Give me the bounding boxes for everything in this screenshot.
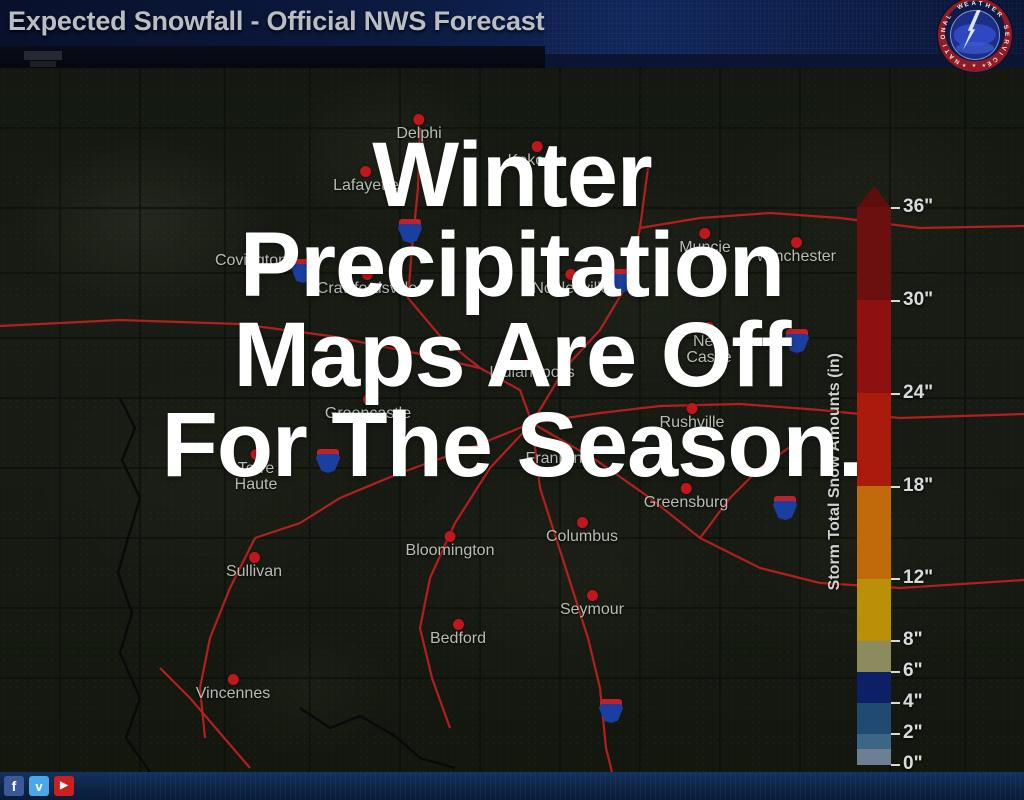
colorbar-tick-label: 0": [903, 753, 923, 772]
colorbar-top-cap: [857, 186, 891, 208]
colorbar-axis-title: Storm Total Snow Amounts (in): [826, 353, 844, 590]
city-dot-icon: [527, 353, 538, 364]
city-label: Columbus: [546, 529, 618, 546]
city-marker[interactable]: Delphi: [396, 114, 441, 143]
colorbar-band: [857, 207, 891, 300]
colorbar-tick: [891, 702, 900, 704]
city-marker[interactable]: Muncie: [679, 228, 731, 257]
city-label: Indianapolis: [489, 365, 574, 382]
city-label: New: [686, 334, 731, 350]
colorbar-tick-label: 8": [903, 629, 923, 651]
city-label: Haute: [235, 477, 278, 493]
city-label: Bloomington: [406, 543, 495, 560]
colorbar-band: [857, 671, 891, 703]
interstate-shield-icon[interactable]: [773, 496, 797, 520]
city-label: Delphi: [396, 126, 441, 143]
colorbar-tick: [891, 640, 900, 642]
city-label: Noblesville: [532, 281, 609, 298]
city-marker[interactable]: Bedford: [430, 619, 486, 648]
city-marker[interactable]: Bloomington: [406, 531, 495, 560]
colorbar-segments: [857, 207, 891, 764]
city-marker[interactable]: Sullivan: [226, 552, 282, 581]
city-label: Bedford: [430, 631, 486, 648]
shield-body: [599, 704, 623, 723]
city-marker[interactable]: Noblesville: [532, 269, 609, 298]
colorbar-tick: [891, 764, 900, 766]
city-dot-icon: [549, 439, 560, 450]
shield-body: [785, 334, 809, 353]
colorbar-tick-label: 18": [903, 475, 933, 497]
city-dot-icon: [362, 394, 373, 405]
city-marker[interactable]: Indianapolis: [489, 353, 574, 382]
city-dot-icon: [681, 483, 692, 494]
footer-bar: fᴠ▶: [0, 772, 1024, 800]
interstate-shield-icon[interactable]: [785, 329, 809, 353]
city-marker[interactable]: Winchester: [756, 237, 836, 266]
colorbar-tick-label: 4": [903, 691, 923, 713]
city-dot-icon: [686, 403, 697, 414]
colorbar-band: [857, 702, 891, 734]
facebook-icon[interactable]: f: [4, 776, 24, 796]
city-marker[interactable]: Rushville: [660, 403, 725, 432]
colorbar-tick-label: 30": [903, 289, 933, 311]
colorbar-tick-label: 24": [903, 382, 933, 404]
colorbar-tick-label: 6": [903, 660, 923, 682]
city-label: Greencastle: [325, 406, 411, 423]
city-marker[interactable]: Lafayette: [333, 166, 399, 195]
page-title: Expected Snowfall - Official NWS Forecas…: [8, 6, 544, 37]
city-dot-icon: [703, 322, 714, 333]
city-label: Winchester: [756, 249, 836, 266]
colorbar-band: [857, 486, 891, 579]
city-dot-icon: [699, 228, 710, 239]
city-label: Kokomo: [508, 153, 567, 170]
colorbar-band: [857, 640, 891, 672]
city-dot-icon: [444, 531, 455, 542]
city-label: Muncie: [679, 240, 731, 257]
shield-body: [291, 264, 315, 283]
snowfall-map[interactable]: DelphiLafayetteKokomoCovingtonCrawfordsv…: [0, 68, 1024, 772]
city-marker[interactable]: Franklin: [526, 439, 583, 468]
nws-logo-icon: NATIONAL WEATHER SERVICE ★ ★ ★: [936, 0, 1014, 74]
city-marker[interactable]: NewCastle: [686, 322, 731, 366]
city-label: Lafayette: [333, 178, 399, 195]
city-marker[interactable]: Kokomo: [508, 141, 567, 170]
colorbar-tick: [891, 393, 900, 395]
twitter-icon[interactable]: ᴠ: [29, 776, 49, 796]
youtube-icon[interactable]: ▶: [54, 776, 74, 796]
city-label: Rushville: [660, 415, 725, 432]
shield-body: [773, 501, 797, 520]
interstate-shield-icon[interactable]: [291, 259, 315, 283]
colorbar-tick: [891, 207, 900, 209]
colorbar-tick: [891, 733, 900, 735]
interstate-shield-icon[interactable]: [316, 449, 340, 473]
colorbar-tick-label: 12": [903, 567, 933, 589]
city-marker[interactable]: Columbus: [546, 517, 618, 546]
city-dot-icon: [228, 674, 239, 685]
city-marker[interactable]: Covington: [215, 241, 287, 270]
city-marker[interactable]: Greensburg: [644, 483, 729, 512]
colorbar-tick: [891, 486, 900, 488]
city-label: Vincennes: [196, 686, 270, 703]
city-label: Seymour: [560, 602, 624, 619]
city-dot-icon: [531, 141, 542, 152]
city-label: Franklin: [526, 451, 583, 468]
shield-body: [398, 224, 422, 243]
city-marker[interactable]: Greencastle: [325, 394, 411, 423]
colorbar-tick: [891, 300, 900, 302]
city-label: Crawfordsville: [317, 281, 417, 298]
city-label: Covington: [215, 253, 287, 270]
colorbar-tick-label: 2": [903, 722, 923, 744]
city-label: Greensburg: [644, 495, 729, 512]
city-marker[interactable]: Crawfordsville: [317, 269, 417, 298]
city-dot-icon: [245, 241, 256, 252]
nws-logo-stars: ★ ★ ★: [936, 63, 1014, 69]
colorbar-band: [857, 393, 891, 486]
city-dot-icon: [566, 269, 577, 280]
colorbar-band: [857, 578, 891, 640]
header-sub-strip: [0, 46, 545, 68]
city-dot-icon: [413, 114, 424, 125]
snowfall-colorbar[interactable]: [857, 186, 891, 764]
colorbar-tick-label: 36": [903, 196, 933, 218]
shield-body: [609, 274, 633, 293]
city-marker[interactable]: Seymour: [560, 590, 624, 619]
city-dot-icon: [577, 517, 588, 528]
strip-blob-2: [30, 61, 56, 67]
social-links[interactable]: fᴠ▶: [4, 776, 74, 796]
strip-blob-1: [24, 51, 62, 60]
city-label: Terre: [235, 461, 278, 477]
city-marker[interactable]: Vincennes: [196, 674, 270, 703]
city-dot-icon: [250, 449, 261, 460]
colorbar-band: [857, 300, 891, 393]
city-label: Sullivan: [226, 564, 282, 581]
interstate-shield-icon[interactable]: [398, 219, 422, 243]
city-dot-icon: [452, 619, 463, 630]
interstate-shield-icon[interactable]: [609, 269, 633, 293]
city-dot-icon: [249, 552, 260, 563]
city-marker[interactable]: TerreHaute: [235, 449, 278, 493]
colorbar-tick: [891, 578, 900, 580]
interstate-shield-icon[interactable]: [599, 699, 623, 723]
colorbar-band: [857, 733, 891, 749]
shield-body: [316, 454, 340, 473]
city-dot-icon: [791, 237, 802, 248]
colorbar-band: [857, 749, 891, 765]
colorbar-tick: [891, 671, 900, 673]
city-dot-icon: [587, 590, 598, 601]
footer-texture: [110, 772, 1024, 800]
city-dot-icon: [362, 269, 373, 280]
city-dot-icon: [360, 166, 371, 177]
weather-graphic: DelphiLafayetteKokomoCovingtonCrawfordsv…: [0, 0, 1024, 800]
city-label: Castle: [686, 350, 731, 366]
